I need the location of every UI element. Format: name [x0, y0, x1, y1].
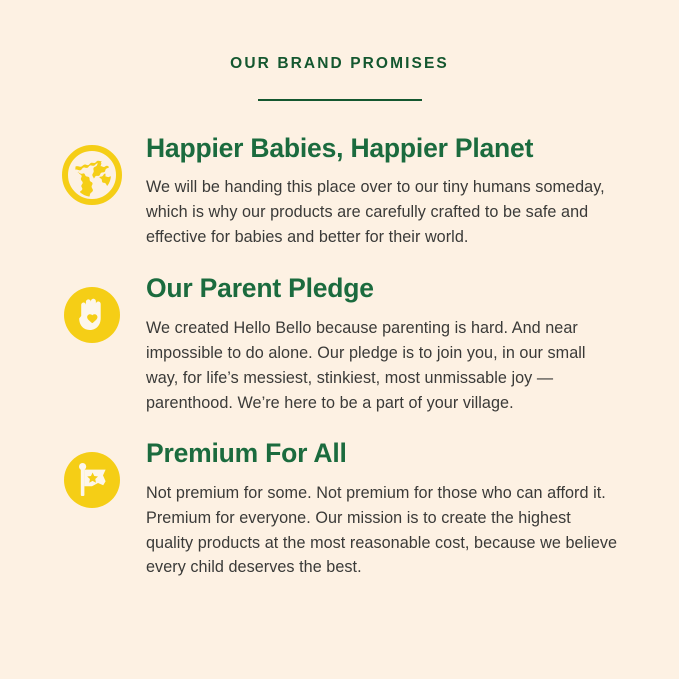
promise-content: Our Parent Pledge We created Hello Bello…	[122, 274, 621, 416]
brand-promises-page: OUR BRAND PROMISES Happier Babies, Happi…	[0, 0, 679, 679]
title-divider	[258, 99, 422, 101]
globe-icon	[62, 145, 122, 205]
promise-description: We will be handing this place over to ou…	[146, 175, 621, 249]
promise-description: Not premium for some. Not premium for th…	[146, 481, 621, 580]
page-title: OUR BRAND PROMISES	[0, 56, 679, 72]
promise-description: We created Hello Bello because parenting…	[146, 316, 621, 415]
page-header: OUR BRAND PROMISES	[0, 0, 679, 101]
flag-star-icon	[62, 450, 122, 510]
promise-content: Happier Babies, Happier Planet We will b…	[122, 134, 621, 250]
promise-item: Our Parent Pledge We created Hello Bello…	[0, 274, 679, 416]
hand-heart-icon	[62, 285, 122, 345]
promise-title: Happier Babies, Happier Planet	[146, 134, 621, 164]
promise-title: Premium For All	[146, 439, 621, 469]
promise-content: Premium For All Not premium for some. No…	[122, 439, 621, 580]
promise-item: Premium For All Not premium for some. No…	[0, 439, 679, 580]
promise-list: Happier Babies, Happier Planet We will b…	[0, 134, 679, 581]
promise-item: Happier Babies, Happier Planet We will b…	[0, 134, 679, 250]
promise-title: Our Parent Pledge	[146, 274, 621, 304]
